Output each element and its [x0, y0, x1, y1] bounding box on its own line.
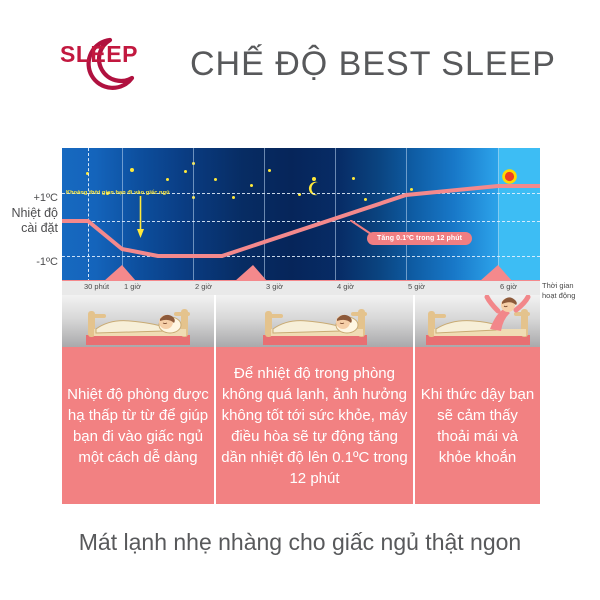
crescent-moon-icon: SLEEP: [58, 34, 166, 92]
y-label-minus-one: -1ºC: [36, 256, 58, 268]
panel-cooldown: Nhiệt độ phòng được hạ thấp từ từ để giú…: [62, 347, 214, 504]
panel-cooldown-text: Nhiệt độ phòng được hạ thấp từ từ để giú…: [66, 384, 210, 468]
header: SLEEP CHẾ ĐỘ BEST SLEEP: [0, 26, 600, 98]
person-waking-up-in-bed-icon: [418, 295, 538, 347]
x-tick-1h: 1 giờ: [124, 282, 141, 291]
x-axis-time: 30 phút 1 giờ 2 giờ 3 giờ 4 giờ 5 giờ 6 …: [62, 281, 540, 295]
x-tick-3h: 3 giờ: [266, 282, 283, 291]
footer-caption: Mát lạnh nhẹ nhàng cho giấc ngủ thật ngo…: [0, 522, 600, 562]
x-tick-2h: 2 giờ: [195, 282, 212, 291]
infographic-page: SLEEP CHẾ ĐỘ BEST SLEEP +1ºC Nhiệt độcài…: [0, 0, 600, 600]
sleep-logo: SLEEP: [58, 34, 166, 92]
temperature-chart: +1ºC Nhiệt độcài đặt -1ºC: [0, 140, 600, 290]
panel-wakeup: Khi thức dậy bạn sẽ cảm thấy thoải mái v…: [415, 347, 540, 504]
bed-panel-waking: [415, 295, 540, 347]
x-tick-6h: 6 giờ: [500, 282, 517, 291]
y-label-plus-one: +1ºC: [33, 192, 58, 204]
chart-plot-area: Khoảng thời gian bạn đi vào giấc ngủ Tăn…: [62, 148, 540, 282]
x-tick-30min: 30 phút: [84, 282, 109, 291]
y-axis-labels: +1ºC Nhiệt độcài đặt -1ºC: [0, 140, 62, 290]
bed-panel-sleeping-2: [216, 295, 413, 347]
progress-arrow-band: [62, 262, 540, 282]
panel-warmup: Để nhiệt độ trong phòng không quá lạnh, …: [216, 347, 413, 504]
x-tick-5h: 5 giờ: [408, 282, 425, 291]
y-label-set-temp: Nhiệt độcài đặt: [0, 206, 58, 236]
description-panels: Nhiệt độ phòng được hạ thấp từ từ để giú…: [62, 347, 540, 504]
sleep-onset-label: Khoảng thời gian bạn đi vào giấc ngủ: [66, 190, 170, 196]
person-sleeping-in-bed-icon: [255, 297, 375, 347]
bed-panel-sleeping-1: [62, 295, 214, 347]
active-time-label: Thời gianhoạt động: [542, 281, 600, 301]
logo-text: SLEEP: [60, 41, 138, 67]
person-sleeping-in-bed-icon: [78, 297, 198, 347]
page-title: CHẾ ĐỘ BEST SLEEP: [190, 40, 570, 90]
sleep-onset-arrow-icon: [136, 196, 145, 238]
panel-warmup-text: Để nhiệt độ trong phòng không quá lạnh, …: [220, 363, 409, 489]
panel-wakeup-text: Khi thức dậy bạn sẽ cảm thấy thoải mái v…: [419, 384, 536, 468]
bed-illustration-strip: [62, 295, 540, 347]
x-tick-4h: 4 giờ: [337, 282, 354, 291]
warmup-rate-label: Tăng 0.1ºC trong 12 phút: [367, 232, 472, 245]
